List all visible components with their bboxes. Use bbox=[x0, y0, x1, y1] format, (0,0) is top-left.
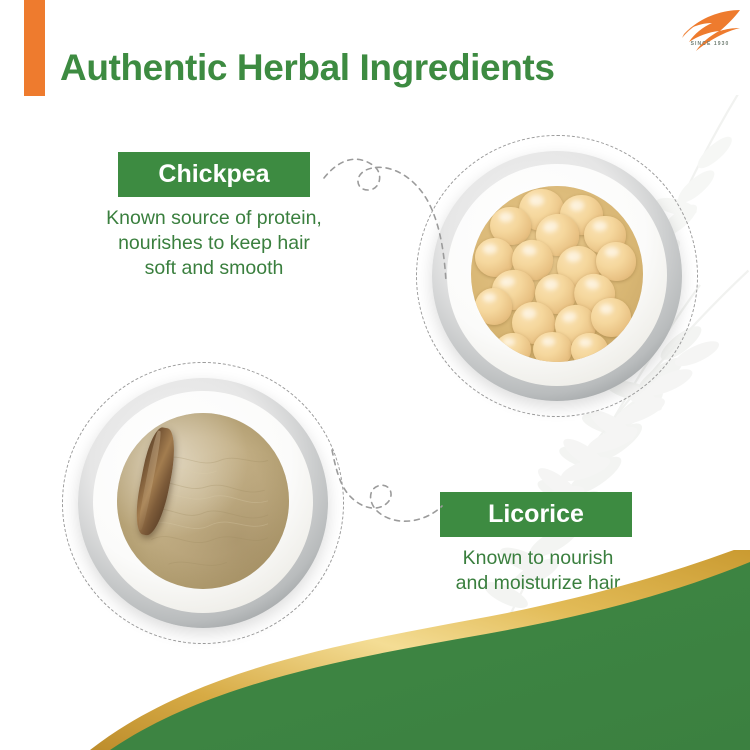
chickpea-bowl-image bbox=[416, 135, 698, 417]
bowl-rim bbox=[447, 164, 667, 387]
poster-canvas: Authentic Herbal Ingredients SINCE 1930 … bbox=[0, 0, 750, 750]
logo-tagline: SINCE 1930 bbox=[678, 41, 742, 47]
ingredient-label-chickpea: Chickpea bbox=[118, 152, 310, 197]
ingredient-label-licorice: Licorice bbox=[440, 492, 632, 537]
bottom-wave-decoration bbox=[0, 550, 750, 750]
bowl-shadow bbox=[432, 151, 682, 401]
desc-line: nourishes to keep hair bbox=[64, 231, 364, 256]
header-accent-bar bbox=[24, 0, 45, 96]
page-title: Authentic Herbal Ingredients bbox=[60, 47, 555, 89]
desc-line: soft and smooth bbox=[64, 256, 364, 281]
desc-line: Known source of protein, bbox=[64, 206, 364, 231]
brand-flame-logo-icon bbox=[678, 8, 742, 54]
ingredient-description-chickpea: Known source of protein, nourishes to ke… bbox=[64, 206, 364, 281]
bowl-contents-chickpeas bbox=[471, 186, 643, 362]
